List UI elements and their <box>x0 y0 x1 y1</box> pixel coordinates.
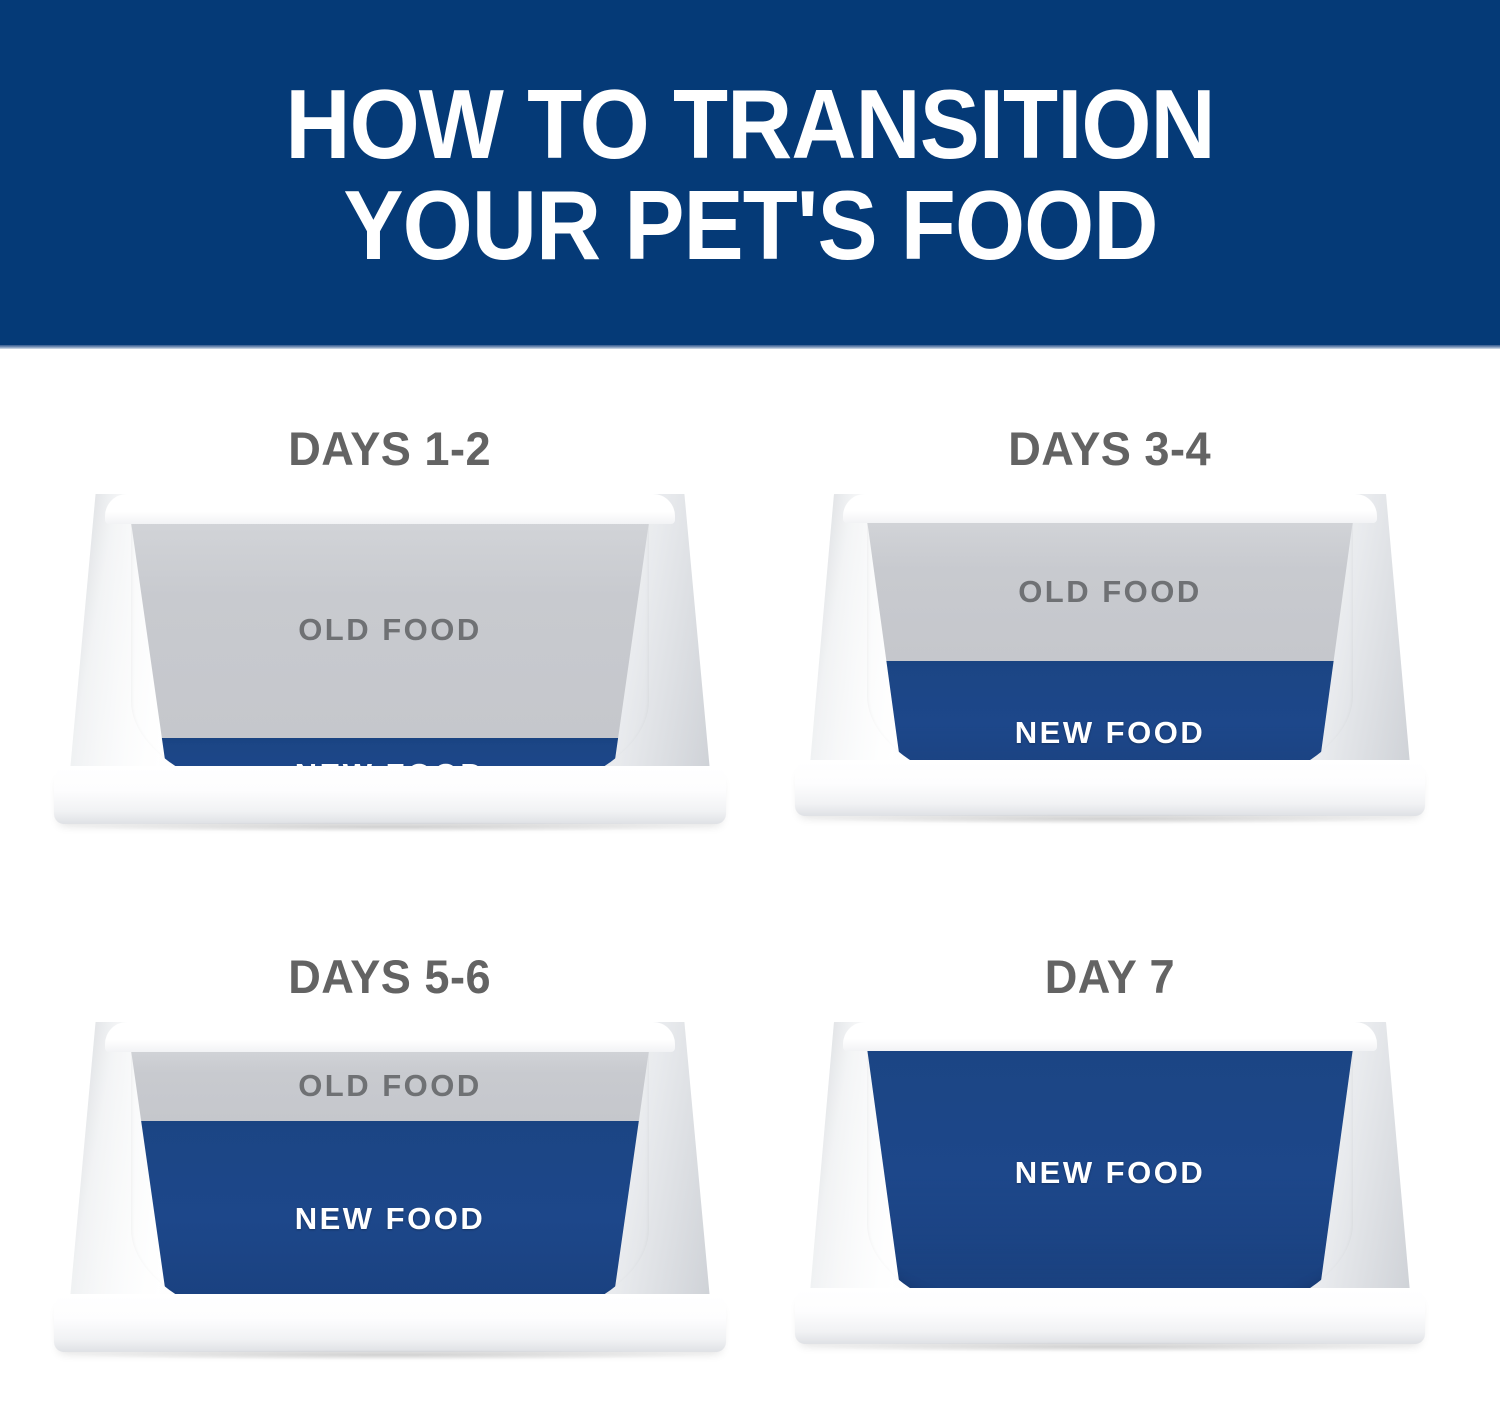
transition-step-days-1-2: DAYS 1-2 OLD FOOD NEW FOOD <box>30 421 750 824</box>
old-food-label: OLD FOOD <box>867 574 1353 610</box>
day-label: DAYS 3-4 <box>1009 421 1212 476</box>
transition-step-days-5-6: DAYS 5-6 OLD FOOD NEW FOOD <box>30 949 750 1352</box>
page-title-line-1: HOW TO TRANSITION <box>285 76 1214 172</box>
bowl-base <box>54 1294 726 1352</box>
bowl-rim <box>105 494 675 524</box>
bowl-base <box>54 766 726 824</box>
bowl-rim <box>843 494 1377 523</box>
food-bowl: OLD FOOD NEW FOOD <box>70 1022 710 1352</box>
transition-step-days-3-4: DAYS 3-4 OLD FOOD NEW FOOD <box>750 421 1470 816</box>
day-label: DAYS 1-2 <box>289 421 492 476</box>
page-title-line-2: YOUR PET'S FOOD <box>343 177 1157 273</box>
infographic-page: HOW TO TRANSITION YOUR PET'S FOOD DAYS 1… <box>0 0 1500 1401</box>
transition-steps-grid: DAYS 1-2 OLD FOOD NEW FOOD DAYS 3-4 <box>0 349 1500 1401</box>
new-food-label: NEW FOOD <box>867 1155 1353 1191</box>
header-banner: HOW TO TRANSITION YOUR PET'S FOOD <box>0 0 1500 349</box>
new-food-label: NEW FOOD <box>867 715 1353 751</box>
food-bowl: OLD FOOD NEW FOOD <box>810 494 1410 816</box>
bowl-rim <box>843 1022 1377 1051</box>
transition-step-day-7: DAY 7 NEW FOOD <box>750 949 1470 1344</box>
day-label: DAYS 5-6 <box>289 949 492 1004</box>
food-bowl: OLD FOOD NEW FOOD <box>70 494 710 824</box>
old-food-label: OLD FOOD <box>131 612 649 648</box>
day-label: DAY 7 <box>1045 949 1175 1004</box>
bowl-base <box>795 1288 1425 1344</box>
old-food-label: OLD FOOD <box>131 1068 649 1104</box>
new-food-label: NEW FOOD <box>131 1201 649 1237</box>
bowl-base <box>795 760 1425 816</box>
bowl-rim <box>105 1022 675 1052</box>
food-bowl: NEW FOOD <box>810 1022 1410 1344</box>
